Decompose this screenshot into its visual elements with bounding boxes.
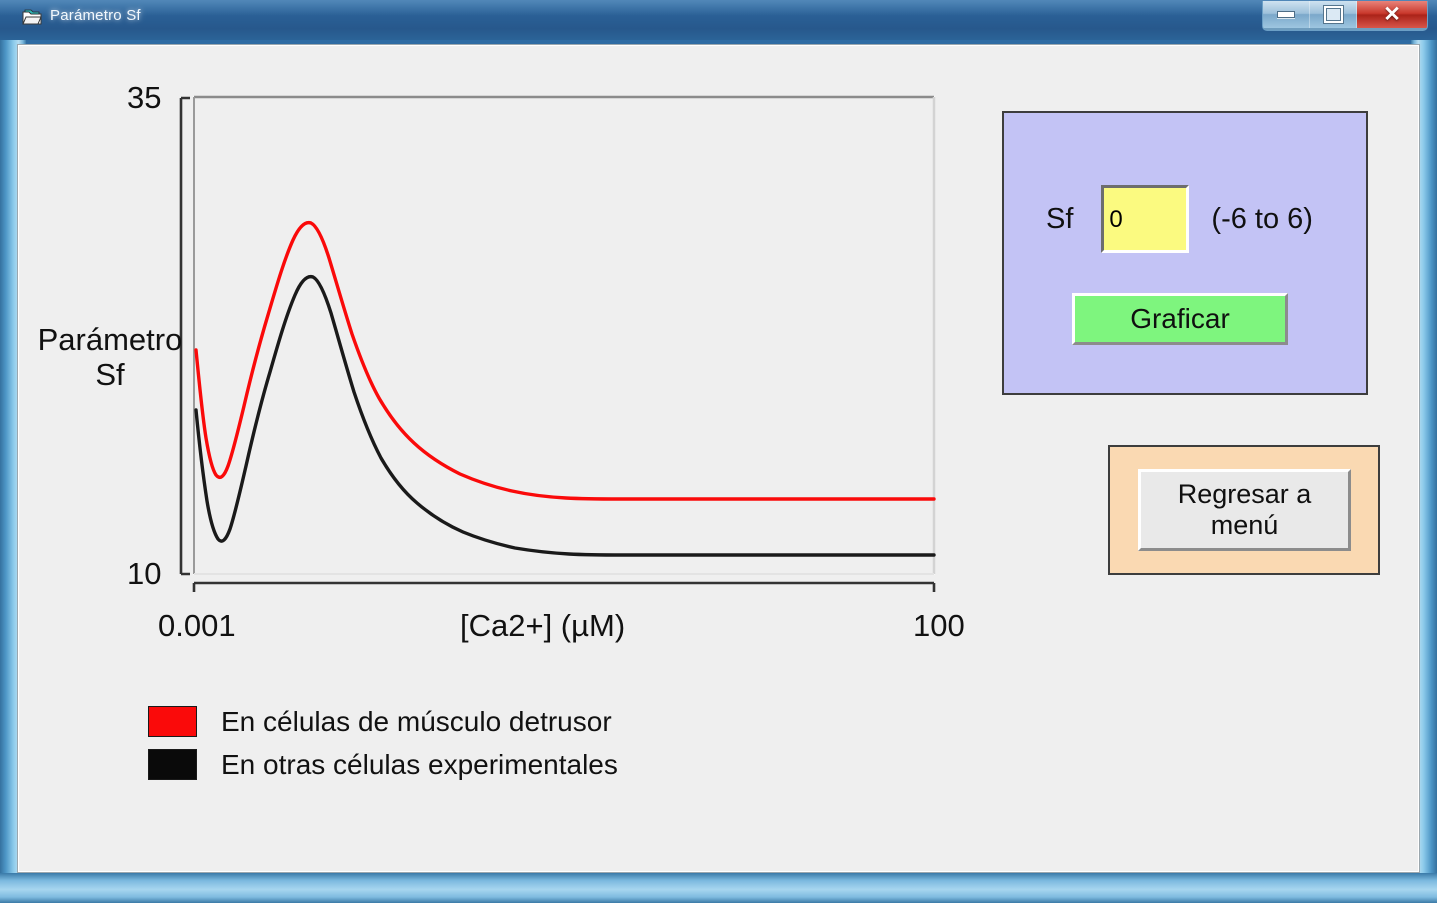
y-axis-tick-min: 10 [127, 556, 161, 592]
series-line-other [196, 277, 934, 555]
window-controls: ✕ [1262, 1, 1428, 31]
legend-item-other: En otras células experimentales [148, 743, 618, 786]
x-axis-tick-max: 100 [913, 608, 965, 644]
maximize-icon [1324, 6, 1343, 23]
window-border-bottom [0, 873, 1437, 903]
window-document-icon [22, 8, 42, 26]
y-axis-title-line2: Sf [22, 358, 198, 393]
legend-label-other: En otras células experimentales [221, 749, 618, 781]
y-axis-title-line1: Parámetro [22, 323, 198, 358]
title-bar-sheen [0, 0, 1437, 16]
sf-label: Sf [1046, 203, 1073, 236]
sf-control-panel: Sf (-6 to 6) Graficar [1002, 111, 1368, 395]
minimize-icon [1277, 11, 1295, 18]
legend-label-detrusor: En células de músculo detrusor [221, 706, 612, 738]
title-bar[interactable]: Parámetro Sf ✕ [0, 0, 1437, 40]
legend-item-detrusor: En células de músculo detrusor [148, 700, 618, 743]
minimize-button[interactable] [1263, 1, 1310, 28]
y-axis-title: Parámetro Sf [22, 323, 198, 392]
chart-legend: En células de músculo detrusor En otras … [148, 700, 618, 786]
graficar-button[interactable]: Graficar [1072, 293, 1288, 345]
client-area: 35 10 Parámetro Sf 0.001 100 [Ca2+] (µM)… [17, 44, 1420, 873]
x-axis-tick-min: 0.001 [158, 608, 236, 644]
back-button-line1: Regresar a [1178, 479, 1312, 509]
back-button-line2: menú [1211, 510, 1279, 540]
sf-input-row: Sf (-6 to 6) [1004, 185, 1366, 253]
back-panel: Regresar a menú [1108, 445, 1380, 575]
sf-input[interactable] [1101, 185, 1189, 253]
y-axis-tick-max: 35 [127, 80, 161, 116]
x-axis-title: [Ca2+] (µM) [460, 608, 625, 644]
maximize-button[interactable] [1310, 1, 1357, 28]
legend-swatch-red [148, 706, 197, 737]
application-window: Parámetro Sf ✕ [0, 0, 1437, 903]
legend-swatch-black [148, 749, 197, 780]
series-line-detrusor [196, 223, 934, 499]
regresar-a-menu-button[interactable]: Regresar a menú [1138, 469, 1351, 551]
close-button[interactable]: ✕ [1357, 1, 1427, 28]
close-icon: ✕ [1383, 4, 1401, 25]
window-title: Parámetro Sf [50, 7, 141, 24]
sf-range-hint: (-6 to 6) [1211, 203, 1313, 236]
chart-panel: 35 10 Parámetro Sf 0.001 100 [Ca2+] (µM)… [18, 45, 1018, 873]
